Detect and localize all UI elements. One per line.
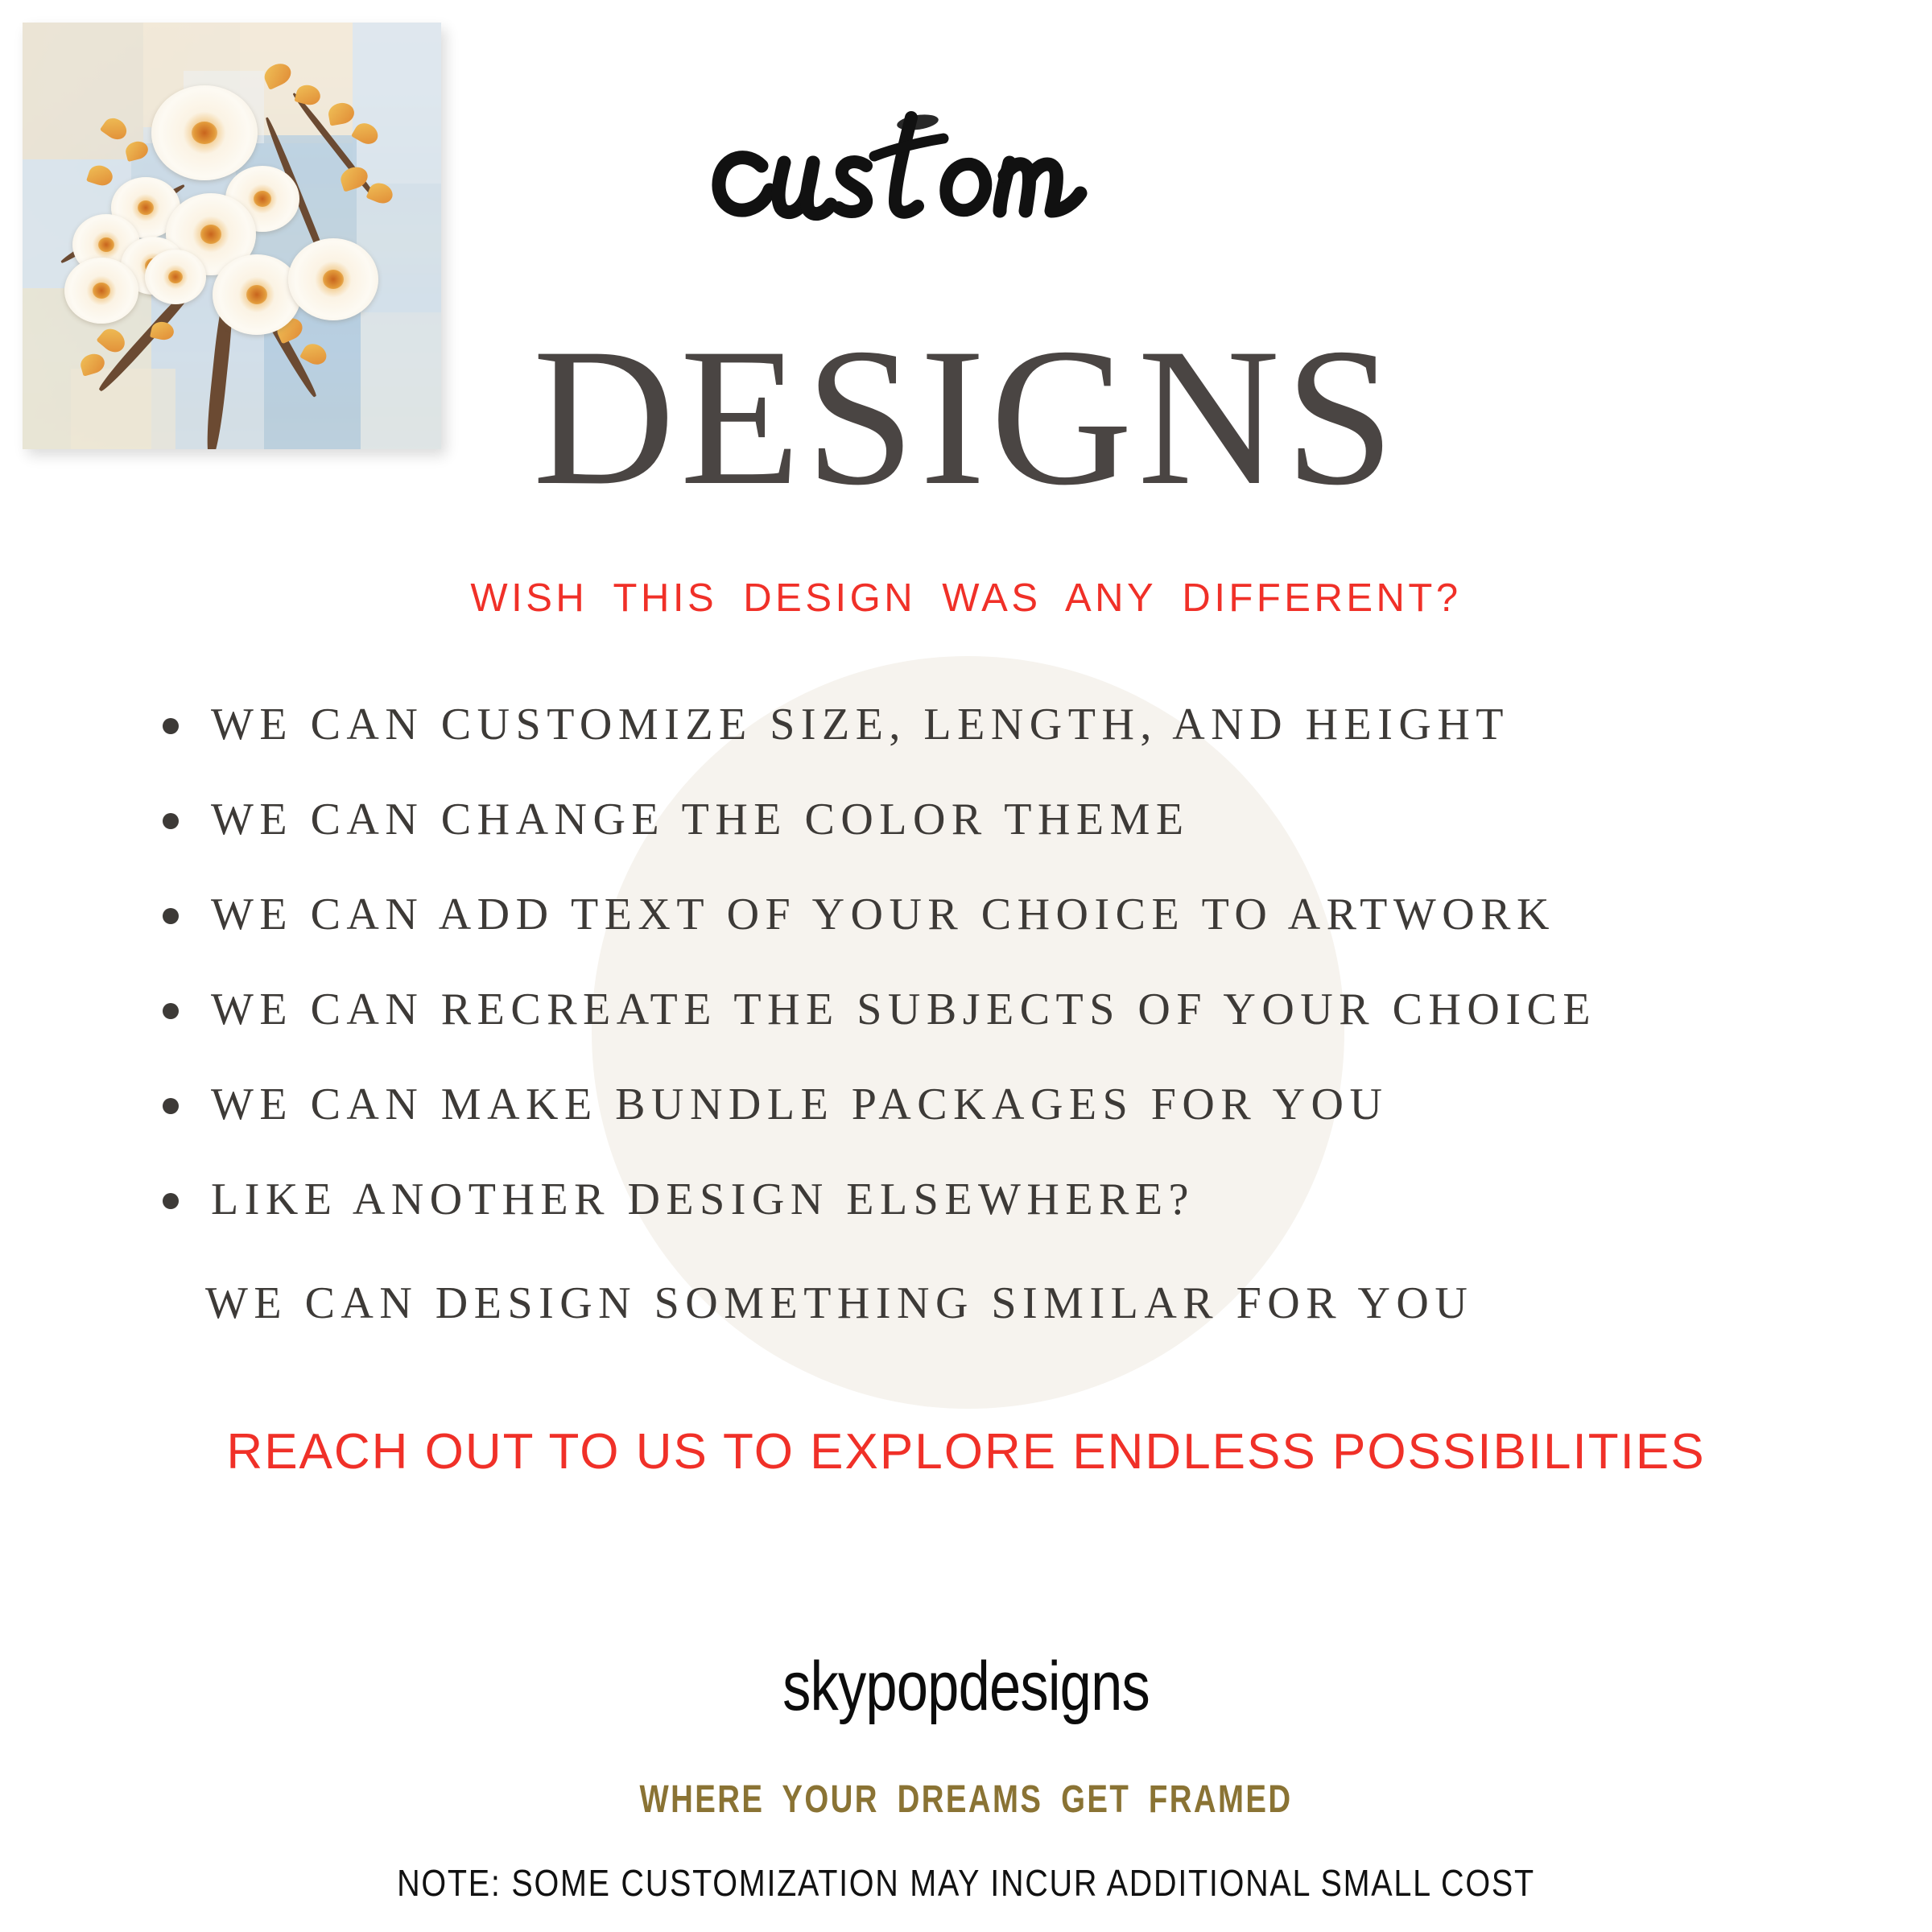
bullet-dot-icon bbox=[163, 813, 179, 829]
bullet-dot-icon bbox=[163, 1003, 179, 1019]
feature-list: WE CAN CUSTOMIZE SIZE, LENGTH, AND HEIGH… bbox=[153, 702, 1811, 1272]
list-item-label: WE CAN MAKE BUNDLE PACKAGES FOR YOU bbox=[211, 1080, 1388, 1129]
bullet-dot-icon bbox=[163, 1193, 179, 1209]
list-item-label: WE CAN CHANGE THE COLOR THEME bbox=[211, 795, 1190, 844]
call-to-action: REACH OUT TO US TO EXPLORE ENDLESS POSSI… bbox=[0, 1423, 1932, 1480]
brand-logo: skypopdesigns bbox=[174, 1647, 1758, 1727]
brand-tagline: WHERE YOUR DREAMS GET FRAMED bbox=[193, 1777, 1739, 1822]
bullet-dot-icon bbox=[163, 908, 179, 924]
bullet-dot-icon bbox=[163, 718, 179, 734]
footer-note: NOTE: SOME CUSTOMIZATION MAY INCUR ADDIT… bbox=[135, 1861, 1797, 1905]
subtitle-question: WISH THIS DESIGN WAS ANY DIFFERENT? bbox=[0, 576, 1932, 621]
list-item-label: WE CAN CUSTOMIZE SIZE, LENGTH, AND HEIGH… bbox=[211, 700, 1509, 749]
list-item: WE CAN CHANGE THE COLOR THEME bbox=[153, 797, 1811, 892]
list-item-label: WE CAN ADD TEXT OF YOUR CHOICE TO ARTWOR… bbox=[211, 890, 1555, 939]
list-item: WE CAN CUSTOMIZE SIZE, LENGTH, AND HEIGH… bbox=[153, 702, 1811, 797]
list-item: WE CAN RECREATE THE SUBJECTS OF YOUR CHO… bbox=[153, 987, 1811, 1082]
list-item-label: WE CAN RECREATE THE SUBJECTS OF YOUR CHO… bbox=[211, 985, 1596, 1034]
list-item: WE CAN ADD TEXT OF YOUR CHOICE TO ARTWOR… bbox=[153, 892, 1811, 987]
bullet-dot-icon bbox=[163, 1098, 179, 1114]
continuation-line: WE CAN DESIGN SOMETHING SIMILAR FOR YOU bbox=[205, 1278, 1473, 1329]
list-item-label: LIKE ANOTHER DESIGN ELSEWHERE? bbox=[211, 1174, 1195, 1224]
list-item: LIKE ANOTHER DESIGN ELSEWHERE? bbox=[153, 1177, 1811, 1272]
list-item: WE CAN MAKE BUNDLE PACKAGES FOR YOU bbox=[153, 1082, 1811, 1177]
custom-designs-poster: DESIGNS WISH THIS DESIGN WAS ANY DIFFERE… bbox=[0, 0, 1932, 1932]
script-headline-custom bbox=[0, 89, 1932, 250]
